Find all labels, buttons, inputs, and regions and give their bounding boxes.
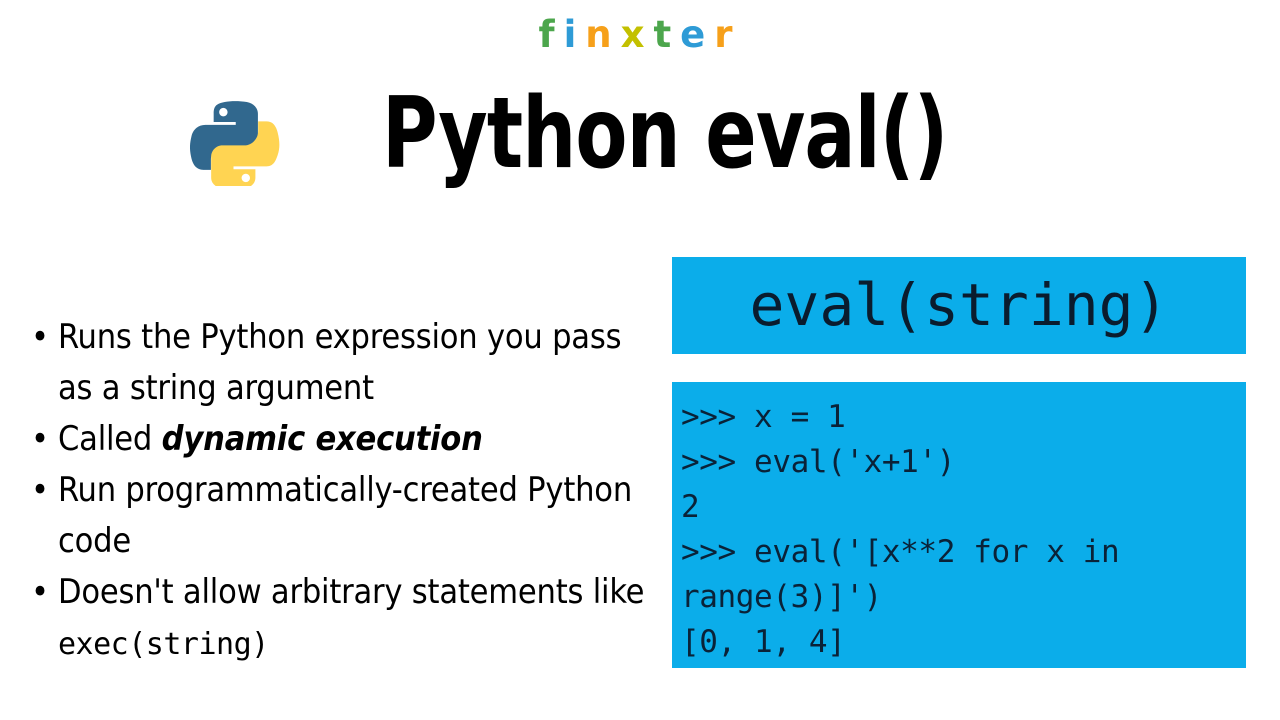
page-title: Python eval()	[382, 79, 947, 189]
list-item: •Called dynamic execution	[26, 414, 656, 465]
list-item-text: Doesn't allow arbitrary statements like	[58, 572, 644, 612]
finxter-logo: finxter	[0, 12, 1280, 58]
signature-banner: eval(string)	[672, 257, 1246, 354]
brand-letter-x: x	[621, 12, 654, 58]
bullet-marker-icon: •	[31, 414, 49, 465]
list-item-emphasis: dynamic execution	[162, 419, 483, 459]
brand-letter-f: f	[538, 12, 563, 58]
code-line: [0, 1, 4]	[681, 620, 1246, 665]
list-item-text: Called	[58, 419, 162, 459]
signature-text: eval(string)	[672, 257, 1246, 354]
bullet-marker-icon: •	[31, 567, 49, 618]
brand-letter-t: t	[653, 12, 680, 58]
list-item: •Doesn't allow arbitrary statements like…	[26, 567, 656, 670]
code-line: >>> x = 1	[681, 395, 1246, 440]
code-line: range(3)]')	[681, 575, 1246, 620]
list-item: •Run programmatically-created Python cod…	[26, 465, 656, 567]
brand-letter-e: e	[680, 12, 714, 58]
brand-letter-r: r	[714, 12, 741, 58]
list-item-text: Runs the Python expression you pass as a…	[58, 317, 621, 408]
python-logo-icon	[190, 94, 282, 186]
bullet-list: •Runs the Python expression you pass as …	[26, 312, 656, 670]
bullet-marker-icon: •	[31, 465, 49, 516]
code-block: >>> x = 1 >>> eval('x+1') 2 >>> eval('[x…	[672, 382, 1246, 668]
list-item-code: exec(string)	[58, 627, 269, 662]
code-line: 2	[681, 485, 1246, 530]
python-logo-svg	[190, 94, 282, 186]
brand-letter-n: n	[585, 12, 620, 58]
code-line: >>> eval('x+1')	[681, 440, 1246, 485]
slide-canvas: finxter Python eval() •Runs the Python e…	[0, 0, 1280, 720]
bullet-marker-icon: •	[31, 312, 49, 363]
brand-letter-i: i	[564, 12, 586, 58]
code-line: >>> eval('[x**2 for x in	[681, 530, 1246, 575]
list-item: •Runs the Python expression you pass as …	[26, 312, 656, 414]
list-item-text: Run programmatically-created Python code	[58, 470, 632, 561]
